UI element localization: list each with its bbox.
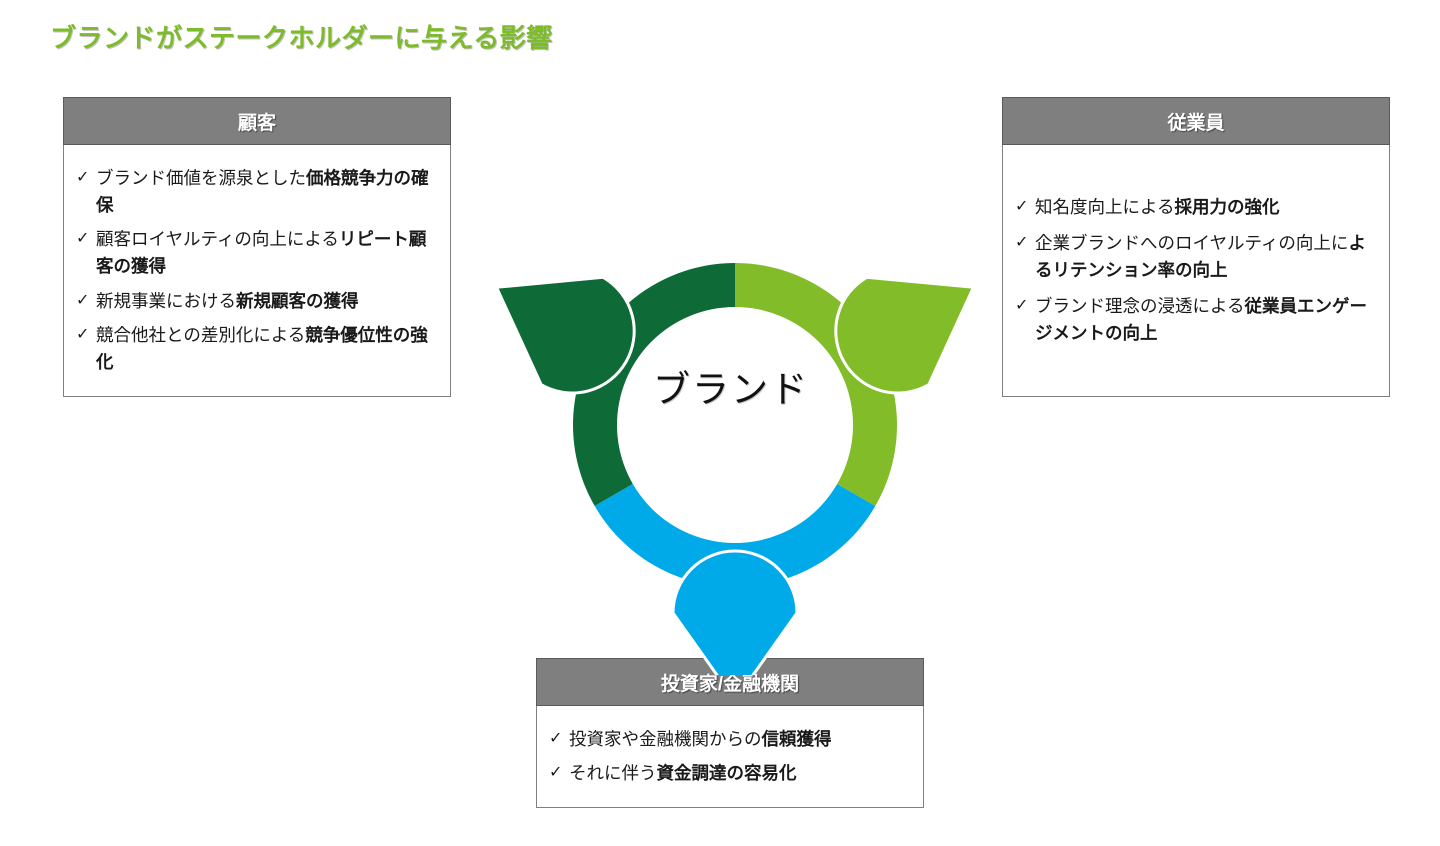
list-item: ✓ 投資家や金融機関からの信頼獲得	[549, 726, 909, 753]
customer-pointer-icon	[496, 277, 634, 393]
panel-investor-body: ✓ 投資家や金融機関からの信頼獲得 ✓ それに伴う資金調達の容易化	[536, 706, 924, 808]
page-title: ブランドがステークホルダーに与える影響	[50, 18, 553, 55]
list-item-normal: ブランド価値を源泉とした	[96, 168, 306, 188]
list-item-bold: 資金調達の容易化	[657, 763, 797, 783]
list-item-text: 知名度向上による採用力の強化	[1035, 194, 1373, 221]
investor-pointer-icon	[673, 551, 797, 675]
list-item: ✓ 企業ブランドへのロイヤルティの向上によるリテンション率の向上	[1015, 230, 1373, 284]
check-icon: ✓	[1015, 293, 1035, 319]
list-item-normal: 新規事業における	[96, 291, 236, 311]
list-item: ✓ 知名度向上による採用力の強化	[1015, 194, 1373, 221]
list-item-text: 競合他社との差別化による競争優位性の強化	[96, 322, 436, 376]
list-item-text: ブランド価値を源泉とした価格競争力の確保	[96, 165, 436, 219]
hub-circle	[617, 307, 853, 543]
check-icon: ✓	[76, 226, 96, 252]
list-item-text: ブランド理念の浸透による従業員エンゲージメントの向上	[1035, 293, 1373, 347]
list-item: ✓ ブランド理念の浸透による従業員エンゲージメントの向上	[1015, 293, 1373, 347]
list-item-text: それに伴う資金調達の容易化	[569, 760, 909, 787]
list-item-text: 投資家や金融機関からの信頼獲得	[569, 726, 909, 753]
employee-pointer-icon	[836, 277, 974, 393]
check-icon: ✓	[1015, 230, 1035, 256]
list-item-bold: 信頼獲得	[762, 729, 832, 749]
panel-employee-body: ✓ 知名度向上による採用力の強化 ✓ 企業ブランドへのロイヤルティの向上によるリ…	[1002, 145, 1390, 397]
list-item-text: 企業ブランドへのロイヤルティの向上によるリテンション率の向上	[1035, 230, 1373, 284]
list-item-normal: 投資家や金融機関からの	[569, 729, 762, 749]
customer-bullet-list: ✓ ブランド価値を源泉とした価格競争力の確保 ✓ 顧客ロイヤルティの向上によるリ…	[76, 158, 436, 383]
list-item-normal: 企業ブランドへのロイヤルティの向上に	[1035, 233, 1348, 253]
list-item-normal: 競合他社との差別化による	[96, 325, 305, 345]
check-icon: ✓	[76, 322, 96, 348]
list-item: ✓ 新規事業における新規顧客の獲得	[76, 288, 436, 315]
list-item-normal: ブランド理念の浸透による	[1035, 296, 1244, 316]
check-icon: ✓	[76, 288, 96, 314]
panel-customer-header: 顧客	[63, 97, 451, 145]
list-item: ✓ ブランド価値を源泉とした価格競争力の確保	[76, 165, 436, 219]
list-item-text: 顧客ロイヤルティの向上によるリピート顧客の獲得	[96, 226, 436, 280]
panel-customer-body: ✓ ブランド価値を源泉とした価格競争力の確保 ✓ 顧客ロイヤルティの向上によるリ…	[63, 145, 451, 397]
panel-investor: 投資家/金融機関 ✓ 投資家や金融機関からの信頼獲得 ✓ それに伴う資金調達の容…	[536, 658, 924, 808]
diagram-svg	[455, 175, 1015, 675]
panel-customer: 顧客 ✓ ブランド価値を源泉とした価格競争力の確保 ✓ 顧客ロイヤルティの向上に…	[63, 97, 451, 397]
brand-stakeholder-diagram: ブランド	[455, 175, 1015, 675]
list-item: ✓ 競合他社との差別化による競争優位性の強化	[76, 322, 436, 376]
employee-bullet-list: ✓ 知名度向上による採用力の強化 ✓ 企業ブランドへのロイヤルティの向上によるリ…	[1015, 185, 1373, 357]
list-item-normal: 顧客ロイヤルティの向上による	[96, 229, 339, 249]
list-item: ✓ 顧客ロイヤルティの向上によるリピート顧客の獲得	[76, 226, 436, 280]
list-item-normal: 知名度向上による	[1035, 197, 1174, 217]
panel-employee: 従業員 ✓ 知名度向上による採用力の強化 ✓ 企業ブランドへのロイヤルティの向上…	[1002, 97, 1390, 397]
panel-employee-header: 従業員	[1002, 97, 1390, 145]
check-icon: ✓	[549, 760, 569, 786]
investor-bullet-list: ✓ 投資家や金融機関からの信頼獲得 ✓ それに伴う資金調達の容易化	[549, 719, 909, 794]
list-item-bold: 新規顧客の獲得	[236, 291, 359, 311]
check-icon: ✓	[76, 165, 96, 191]
list-item-bold: 採用力の強化	[1174, 197, 1279, 217]
list-item: ✓ それに伴う資金調達の容易化	[549, 760, 909, 787]
list-item-normal: それに伴う	[569, 763, 657, 783]
check-icon: ✓	[549, 726, 569, 752]
check-icon: ✓	[1015, 194, 1035, 220]
list-item-text: 新規事業における新規顧客の獲得	[96, 288, 436, 315]
